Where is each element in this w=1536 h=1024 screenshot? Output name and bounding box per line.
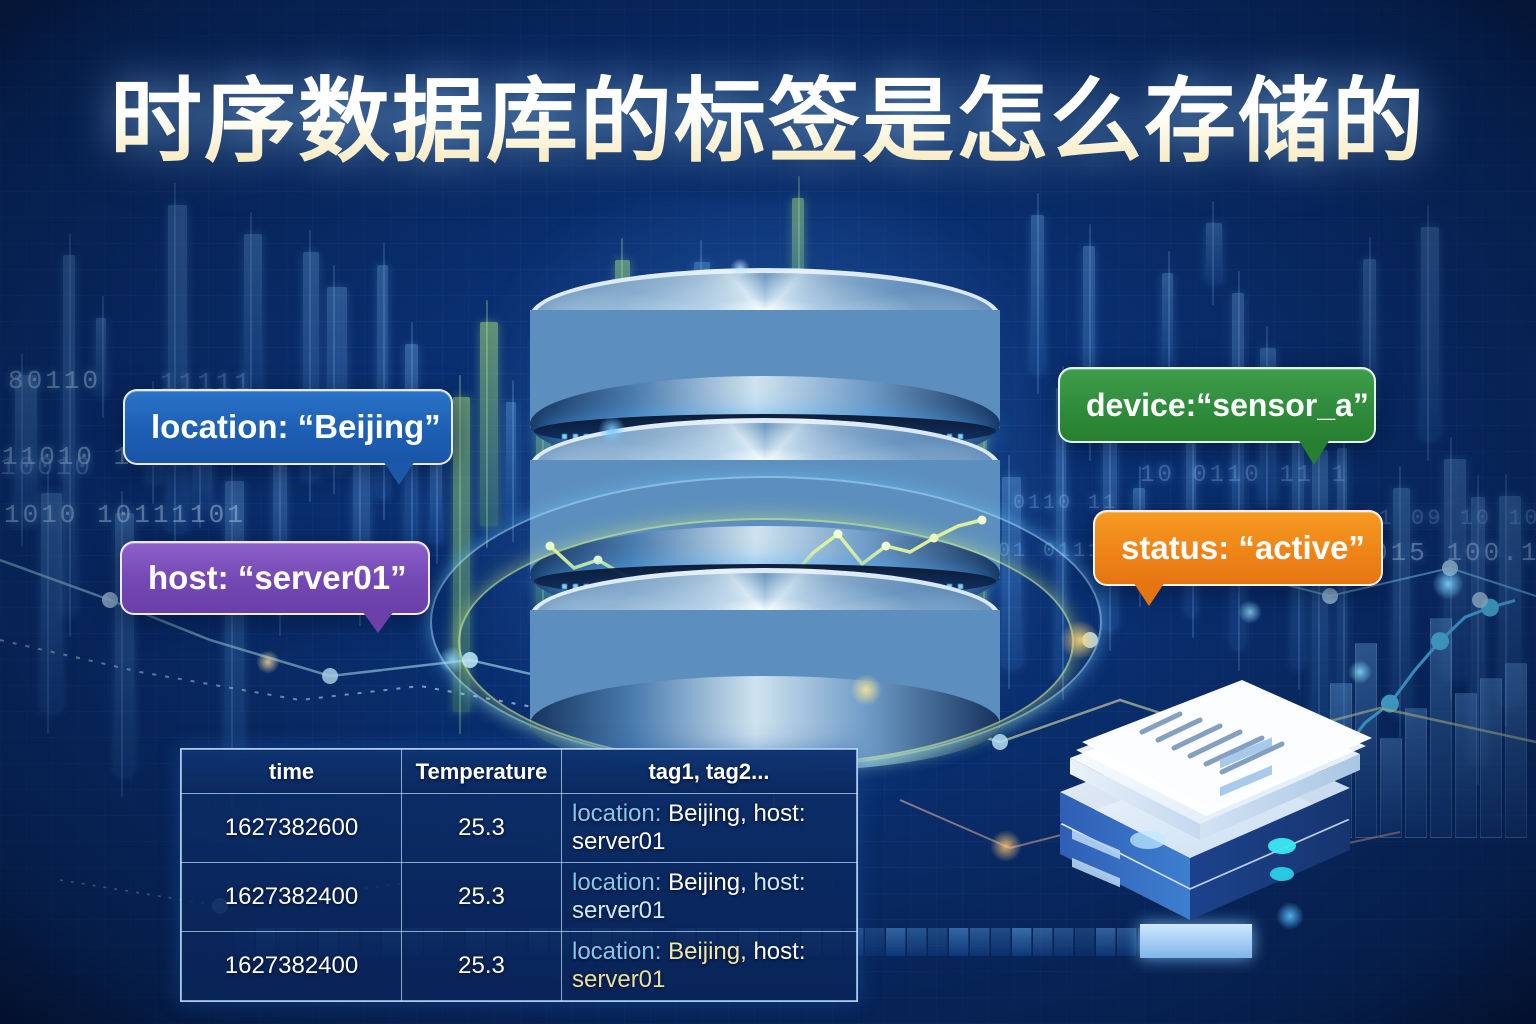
callout-location-label: location: “Beijing” xyxy=(151,408,441,446)
glow-spark xyxy=(850,674,882,706)
table-element: time Temperature tag1, tag2... 162738260… xyxy=(181,749,857,1001)
cell-temperature: 25.3 xyxy=(402,794,562,863)
glow-spark xyxy=(1238,600,1262,624)
stream-segment xyxy=(865,928,885,956)
callout-status-label: status: “active” xyxy=(1121,529,1365,567)
stream-segment xyxy=(907,928,927,956)
callout-host-label: host: “server01” xyxy=(148,559,407,597)
server-document-stack xyxy=(1030,662,1410,922)
binary-text: 80110 xyxy=(8,366,101,396)
tag-token: server01 xyxy=(572,966,665,993)
glow-spark xyxy=(990,830,1022,862)
tag-token: Beijing, xyxy=(668,800,753,827)
database-cylinder xyxy=(516,268,1016,768)
stream-segment xyxy=(1033,928,1053,956)
stream-segment xyxy=(1012,928,1032,956)
table-row: 162738240025.3location: Beijing, host: s… xyxy=(182,863,857,932)
glow-spark xyxy=(598,416,626,444)
binary-text: 10 0110 11 1 xyxy=(1140,462,1349,489)
cell-time: 1627382600 xyxy=(182,794,402,863)
callout-device-label: device:“sensor_a” xyxy=(1086,387,1369,424)
stream-segment xyxy=(991,928,1011,956)
cell-temperature: 25.3 xyxy=(402,932,562,1001)
network-node xyxy=(1472,592,1488,608)
network-node xyxy=(322,668,338,684)
network-node xyxy=(1322,588,1338,604)
callout-host-tail xyxy=(362,611,394,633)
stream-segment xyxy=(949,928,969,956)
tag-token: location: xyxy=(572,800,668,827)
cell-tags: location: Beijing, host: server01 xyxy=(562,863,857,932)
orbital-ring-warm xyxy=(458,518,1074,766)
glow-spark xyxy=(730,258,750,278)
callout-location-tail xyxy=(383,461,415,485)
binary-text: 1010 10111101 xyxy=(4,500,246,530)
stream-segment xyxy=(1075,928,1095,956)
stream-segment xyxy=(1117,928,1137,956)
tag-token: Beijing, xyxy=(668,869,753,896)
column-header-tags: tag1, tag2... xyxy=(562,750,857,794)
glow-spark xyxy=(1060,620,1100,660)
glow-spark xyxy=(438,646,466,674)
poster-canvas: 801101111111010 1101100101010 1011110110… xyxy=(0,0,1536,1024)
tag-token: server01 xyxy=(572,828,665,855)
table-row: 162738240025.3location: Beijing, host: s… xyxy=(182,932,857,1001)
glow-spark xyxy=(1432,568,1464,600)
tag-token: location: xyxy=(572,869,668,896)
callout-status-tail xyxy=(1133,582,1165,606)
cell-time: 1627382400 xyxy=(182,932,402,1001)
tag-token: host: xyxy=(753,869,805,896)
stream-segment xyxy=(970,928,990,956)
glow-spark xyxy=(256,650,280,674)
column-header-temperature: Temperature xyxy=(402,750,562,794)
server-stack-illustration xyxy=(1030,662,1410,922)
cell-temperature: 25.3 xyxy=(402,863,562,932)
tag-token: Beijing, xyxy=(668,938,753,965)
stream-segment xyxy=(886,928,906,956)
cell-time: 1627382400 xyxy=(182,863,402,932)
binary-text: 015 100.10115 xyxy=(1372,538,1536,568)
callout-device[interactable]: device:“sensor_a” xyxy=(1058,367,1376,443)
tag-token: location: xyxy=(572,938,668,965)
callout-device-tail xyxy=(1298,439,1330,465)
tag-token: host: xyxy=(753,938,805,965)
column-header-time: time xyxy=(182,750,402,794)
cell-tags: location: Beijing, host: server01 xyxy=(562,794,857,863)
callout-host[interactable]: host: “server01” xyxy=(120,541,430,615)
callout-status[interactable]: status: “active” xyxy=(1093,510,1383,586)
callout-location[interactable]: location: “Beijing” xyxy=(123,389,453,465)
cell-tags: location: Beijing, host: server01 xyxy=(562,932,857,1001)
table-head: time Temperature tag1, tag2... xyxy=(182,750,857,794)
stream-segment xyxy=(1096,928,1116,956)
table-body: 162738260025.3location: Beijing, host: s… xyxy=(182,794,857,1001)
page-title: 时序数据库的标签是怎么存储的 xyxy=(0,74,1536,171)
stream-segment xyxy=(1054,928,1074,956)
tag-token: host: xyxy=(753,800,805,827)
stream-segment xyxy=(928,928,948,956)
tag-token: server01 xyxy=(572,897,665,924)
network-node xyxy=(102,592,118,608)
table-row: 162738260025.3location: Beijing, host: s… xyxy=(182,794,857,863)
stream-highlight xyxy=(1140,924,1252,958)
binary-text: 10010 xyxy=(0,452,93,482)
table-header-row: time Temperature tag1, tag2... xyxy=(182,750,857,794)
tag-storage-table: time Temperature tag1, tag2... 162738260… xyxy=(180,748,858,1002)
